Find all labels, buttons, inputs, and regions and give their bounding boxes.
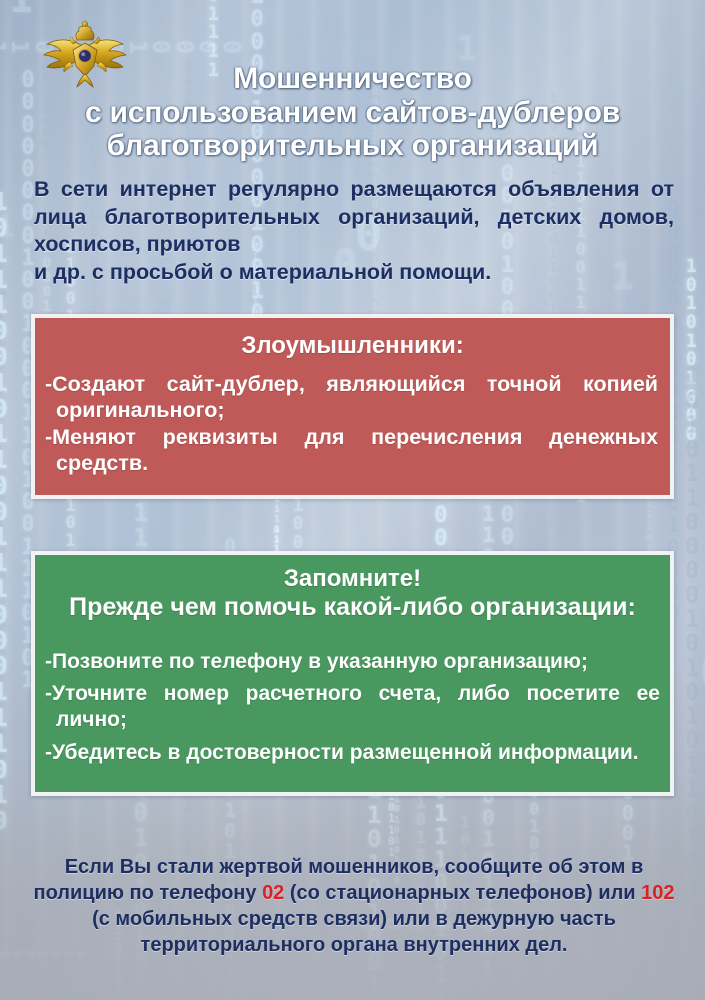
list-item: -Меняют реквизиты для перечисления денеж… xyxy=(45,425,658,477)
report-fraud-footer: Если Вы стали жертвой мошенников, сообщи… xyxy=(30,854,678,958)
safety-advice-list: -Позвоните по телефону в указанную орган… xyxy=(45,649,660,765)
criminals-warning-box: Злоумышленники: -Создают сайт-дублер, яв… xyxy=(31,314,674,499)
safety-advice-box: Запомните! Прежде чем помочь какой-либо … xyxy=(31,551,674,796)
list-item: -Убедитесь в достоверности размещенной и… xyxy=(45,740,660,766)
criminals-method-list: -Создают сайт-дублер, являющийся точной … xyxy=(45,372,658,476)
intro-text-main: В сети интернет регулярно размещаются об… xyxy=(34,176,674,259)
advice-subheading-text: Прежде чем помочь какой-либо организации… xyxy=(43,593,662,622)
poster-title: Мошенничество с использованием сайтов-ду… xyxy=(40,62,665,163)
intro-paragraph: В сети интернет регулярно размещаются об… xyxy=(34,176,674,286)
fraud-awareness-poster: 0 1 1 0 0 1 0 1 1 0 1 0 0 0 0 1 1 1 1 0 … xyxy=(0,0,705,1000)
title-line-3: благотворительных организаций xyxy=(40,129,665,163)
list-item: -Позвоните по телефону в указанную орган… xyxy=(45,649,660,675)
advice-box-heading: Запомните! Прежде чем помочь какой-либо … xyxy=(35,555,670,622)
footer-text-part-3: (с мобильных средств связи) или в дежурн… xyxy=(92,908,616,956)
intro-text-tail: и др. с просьбой о материальной помощи. xyxy=(34,259,674,287)
advice-heading-text: Запомните! xyxy=(284,565,421,592)
list-item: -Создают сайт-дублер, являющийся точной … xyxy=(45,372,658,424)
footer-text-part-2: (со стационарных телефонов) или xyxy=(284,882,641,904)
title-line-1: Мошенничество xyxy=(40,62,665,96)
criminals-box-heading: Злоумышленники: xyxy=(35,318,670,359)
list-item: -Уточните номер расчетного счета, либо п… xyxy=(45,681,660,732)
title-line-2: с использованием сайтов-дублеров xyxy=(40,96,665,130)
emergency-phone-mobile: 102 xyxy=(641,882,674,904)
emergency-phone-landline: 02 xyxy=(262,882,284,904)
